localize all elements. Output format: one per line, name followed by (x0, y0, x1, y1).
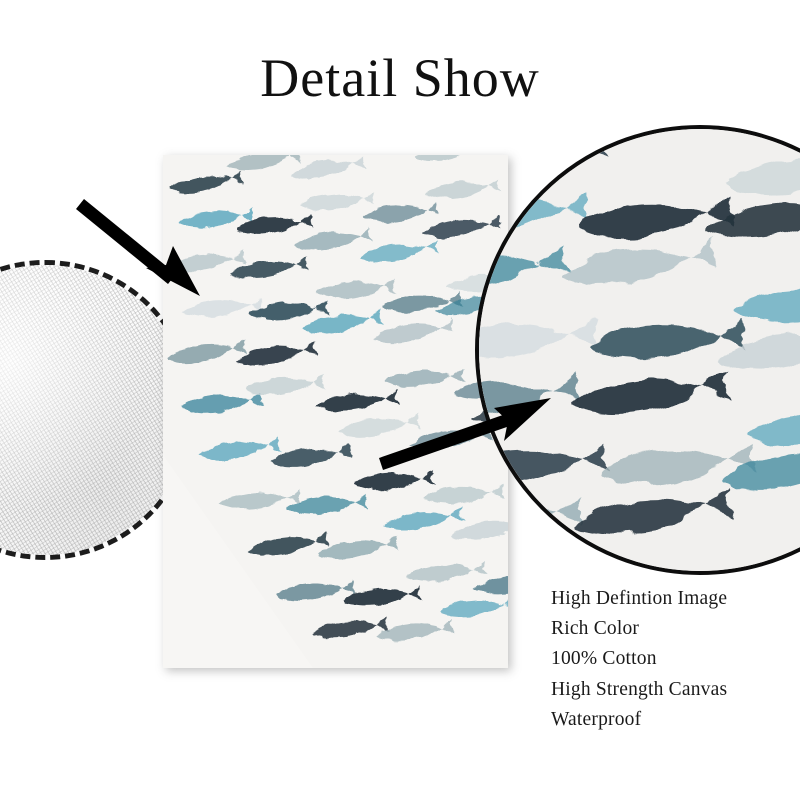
canvas-artwork-print (163, 155, 508, 668)
feature-item: High Strength Canvas (551, 675, 800, 705)
detail-show-page: Detail Show (0, 0, 800, 800)
feature-item: Rich Color (551, 614, 800, 644)
page-title: Detail Show (0, 50, 800, 107)
fish-school-illustration (163, 155, 508, 668)
feature-item: Waterproof (551, 705, 800, 735)
feature-list: High Defintion Image Rich Color 100% Cot… (551, 584, 800, 735)
feature-item: 100% Cotton (551, 644, 800, 674)
magnified-artwork-circle (475, 125, 800, 575)
feature-item: High Defintion Image (551, 584, 800, 614)
magnified-fish-illustration (479, 129, 800, 571)
canvas-weave-shading (0, 265, 190, 555)
